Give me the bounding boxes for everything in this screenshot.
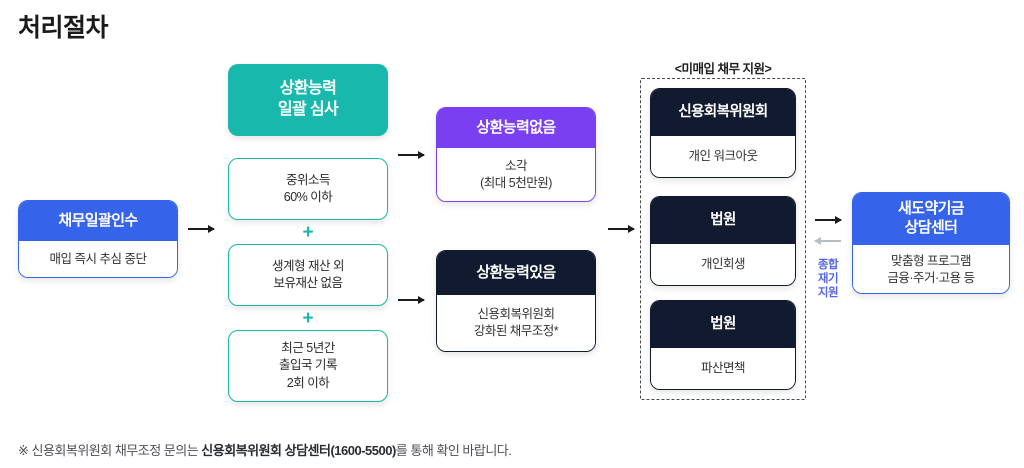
card-unpurchased-3: 법원 파산면책 xyxy=(650,300,796,390)
criterion-3-line3: 2회 이하 xyxy=(287,376,329,390)
center-header-line1: 새도약기금 xyxy=(898,200,964,217)
criterion-2-text: 생계형 재산 외 보유재산 없음 xyxy=(272,258,344,293)
center-body-line1: 맞춤형 프로그램 xyxy=(891,254,971,268)
criterion-3-text: 최근 5년간 출입국 기록 2회 이하 xyxy=(279,340,337,393)
outcome-has-line1: 신용회복위원회 xyxy=(477,307,554,321)
side-label-line2: 재기 xyxy=(818,273,838,285)
arrow-to-outcome-has xyxy=(398,299,424,301)
footnote-suffix: 를 통해 확인 바랍니다. xyxy=(396,443,512,458)
arrow-center-to-group xyxy=(815,240,841,242)
card-review-header: 상환능력 일괄 심사 xyxy=(228,64,388,136)
card-unpurchased-2-body: 개인회생 xyxy=(651,244,795,285)
criterion-3-line2: 출입국 기록 xyxy=(279,358,337,372)
card-outcome-has-capacity-header: 상환능력있음 xyxy=(437,251,595,295)
arrow-group-to-center xyxy=(815,219,841,221)
center-body-line2: 금융·주거·고용 등 xyxy=(887,271,974,285)
side-label-line1: 종합 xyxy=(818,259,838,271)
outcome-none-line1: 소각 xyxy=(505,159,527,173)
card-criterion-3: 최근 5년간 출입국 기록 2회 이하 xyxy=(228,330,388,402)
unpurchased-group-caption: <미매입 채무 지원> xyxy=(640,58,806,77)
card-outcome-has-capacity: 상환능력있음 신용회복위원회 강화된 채무조정* xyxy=(436,250,596,352)
footnote-emphasis: 신용회복위원회 상담센터(1600-5500) xyxy=(201,443,396,458)
arrow-to-unpurchased-group xyxy=(608,228,634,230)
card-intake: 채무일괄인수 매입 즉시 추심 중단 xyxy=(18,200,178,278)
card-unpurchased-3-header: 법원 xyxy=(651,301,795,348)
card-outcome-no-capacity: 상환능력없음 소각 (최대 5천만원) xyxy=(436,107,596,202)
arrow-to-outcome-none xyxy=(398,154,424,156)
criterion-1-line2: 60% 이하 xyxy=(284,190,333,204)
card-unpurchased-2-header: 법원 xyxy=(651,197,795,244)
card-counseling-center: 새도약기금 상담센터 맞춤형 프로그램 금융·주거·고용 등 xyxy=(852,192,1010,294)
criterion-3-line1: 최근 5년간 xyxy=(281,341,334,355)
card-review-header-text: 상환능력 일괄 심사 xyxy=(278,79,338,121)
outcome-none-line2: (최대 5천만원) xyxy=(480,176,552,190)
card-outcome-has-capacity-body: 신용회복위원회 강화된 채무조정* xyxy=(437,295,595,351)
criterion-2-line2: 보유재산 없음 xyxy=(274,276,343,290)
card-unpurchased-1-header: 신용회복위원회 xyxy=(651,89,795,136)
side-label-line3: 지원 xyxy=(818,287,838,299)
criterion-1-line1: 중위소득 xyxy=(286,173,330,187)
review-header-line1: 상환능력 xyxy=(280,80,336,97)
plus-connector-2: + xyxy=(228,309,388,328)
card-outcome-no-capacity-header: 상환능력없음 xyxy=(437,108,595,148)
plus-connector-1: + xyxy=(228,223,388,242)
card-counseling-center-body: 맞춤형 프로그램 금융·주거·고용 등 xyxy=(853,245,1009,294)
card-unpurchased-1: 신용회복위원회 개인 워크아웃 xyxy=(650,88,796,178)
outcome-has-line2: 강화된 채무조정* xyxy=(474,324,558,338)
criterion-2-line1: 생계형 재산 외 xyxy=(272,259,344,273)
card-intake-body: 매입 즉시 추심 중단 xyxy=(19,241,177,277)
diagram-canvas: 처리절차 채무일괄인수 매입 즉시 추심 중단 상환능력 일괄 심사 중위소득 … xyxy=(0,0,1024,468)
card-criterion-1: 중위소득 60% 이하 xyxy=(228,158,388,220)
card-outcome-no-capacity-body: 소각 (최대 5천만원) xyxy=(437,148,595,201)
side-label-comprehensive-support: 종합 재기 지원 xyxy=(808,258,848,300)
card-unpurchased-1-body: 개인 워크아웃 xyxy=(651,136,795,177)
card-unpurchased-3-body: 파산면책 xyxy=(651,348,795,389)
criterion-1-text: 중위소득 60% 이하 xyxy=(284,172,333,207)
card-unpurchased-2: 법원 개인회생 xyxy=(650,196,796,286)
footnote: ※ 신용회복위원회 채무조정 문의는 신용회복위원회 상담센터(1600-550… xyxy=(18,440,511,459)
review-header-line2: 일괄 심사 xyxy=(278,101,338,118)
card-criterion-2: 생계형 재산 외 보유재산 없음 xyxy=(228,244,388,306)
page-title: 처리절차 xyxy=(18,8,108,44)
footnote-prefix: ※ 신용회복위원회 채무조정 문의는 xyxy=(18,443,201,458)
center-header-line2: 상담센터 xyxy=(905,219,958,236)
card-counseling-center-header: 새도약기금 상담센터 xyxy=(853,193,1009,245)
arrow-intake-to-review xyxy=(188,228,214,230)
card-intake-header: 채무일괄인수 xyxy=(19,201,177,241)
